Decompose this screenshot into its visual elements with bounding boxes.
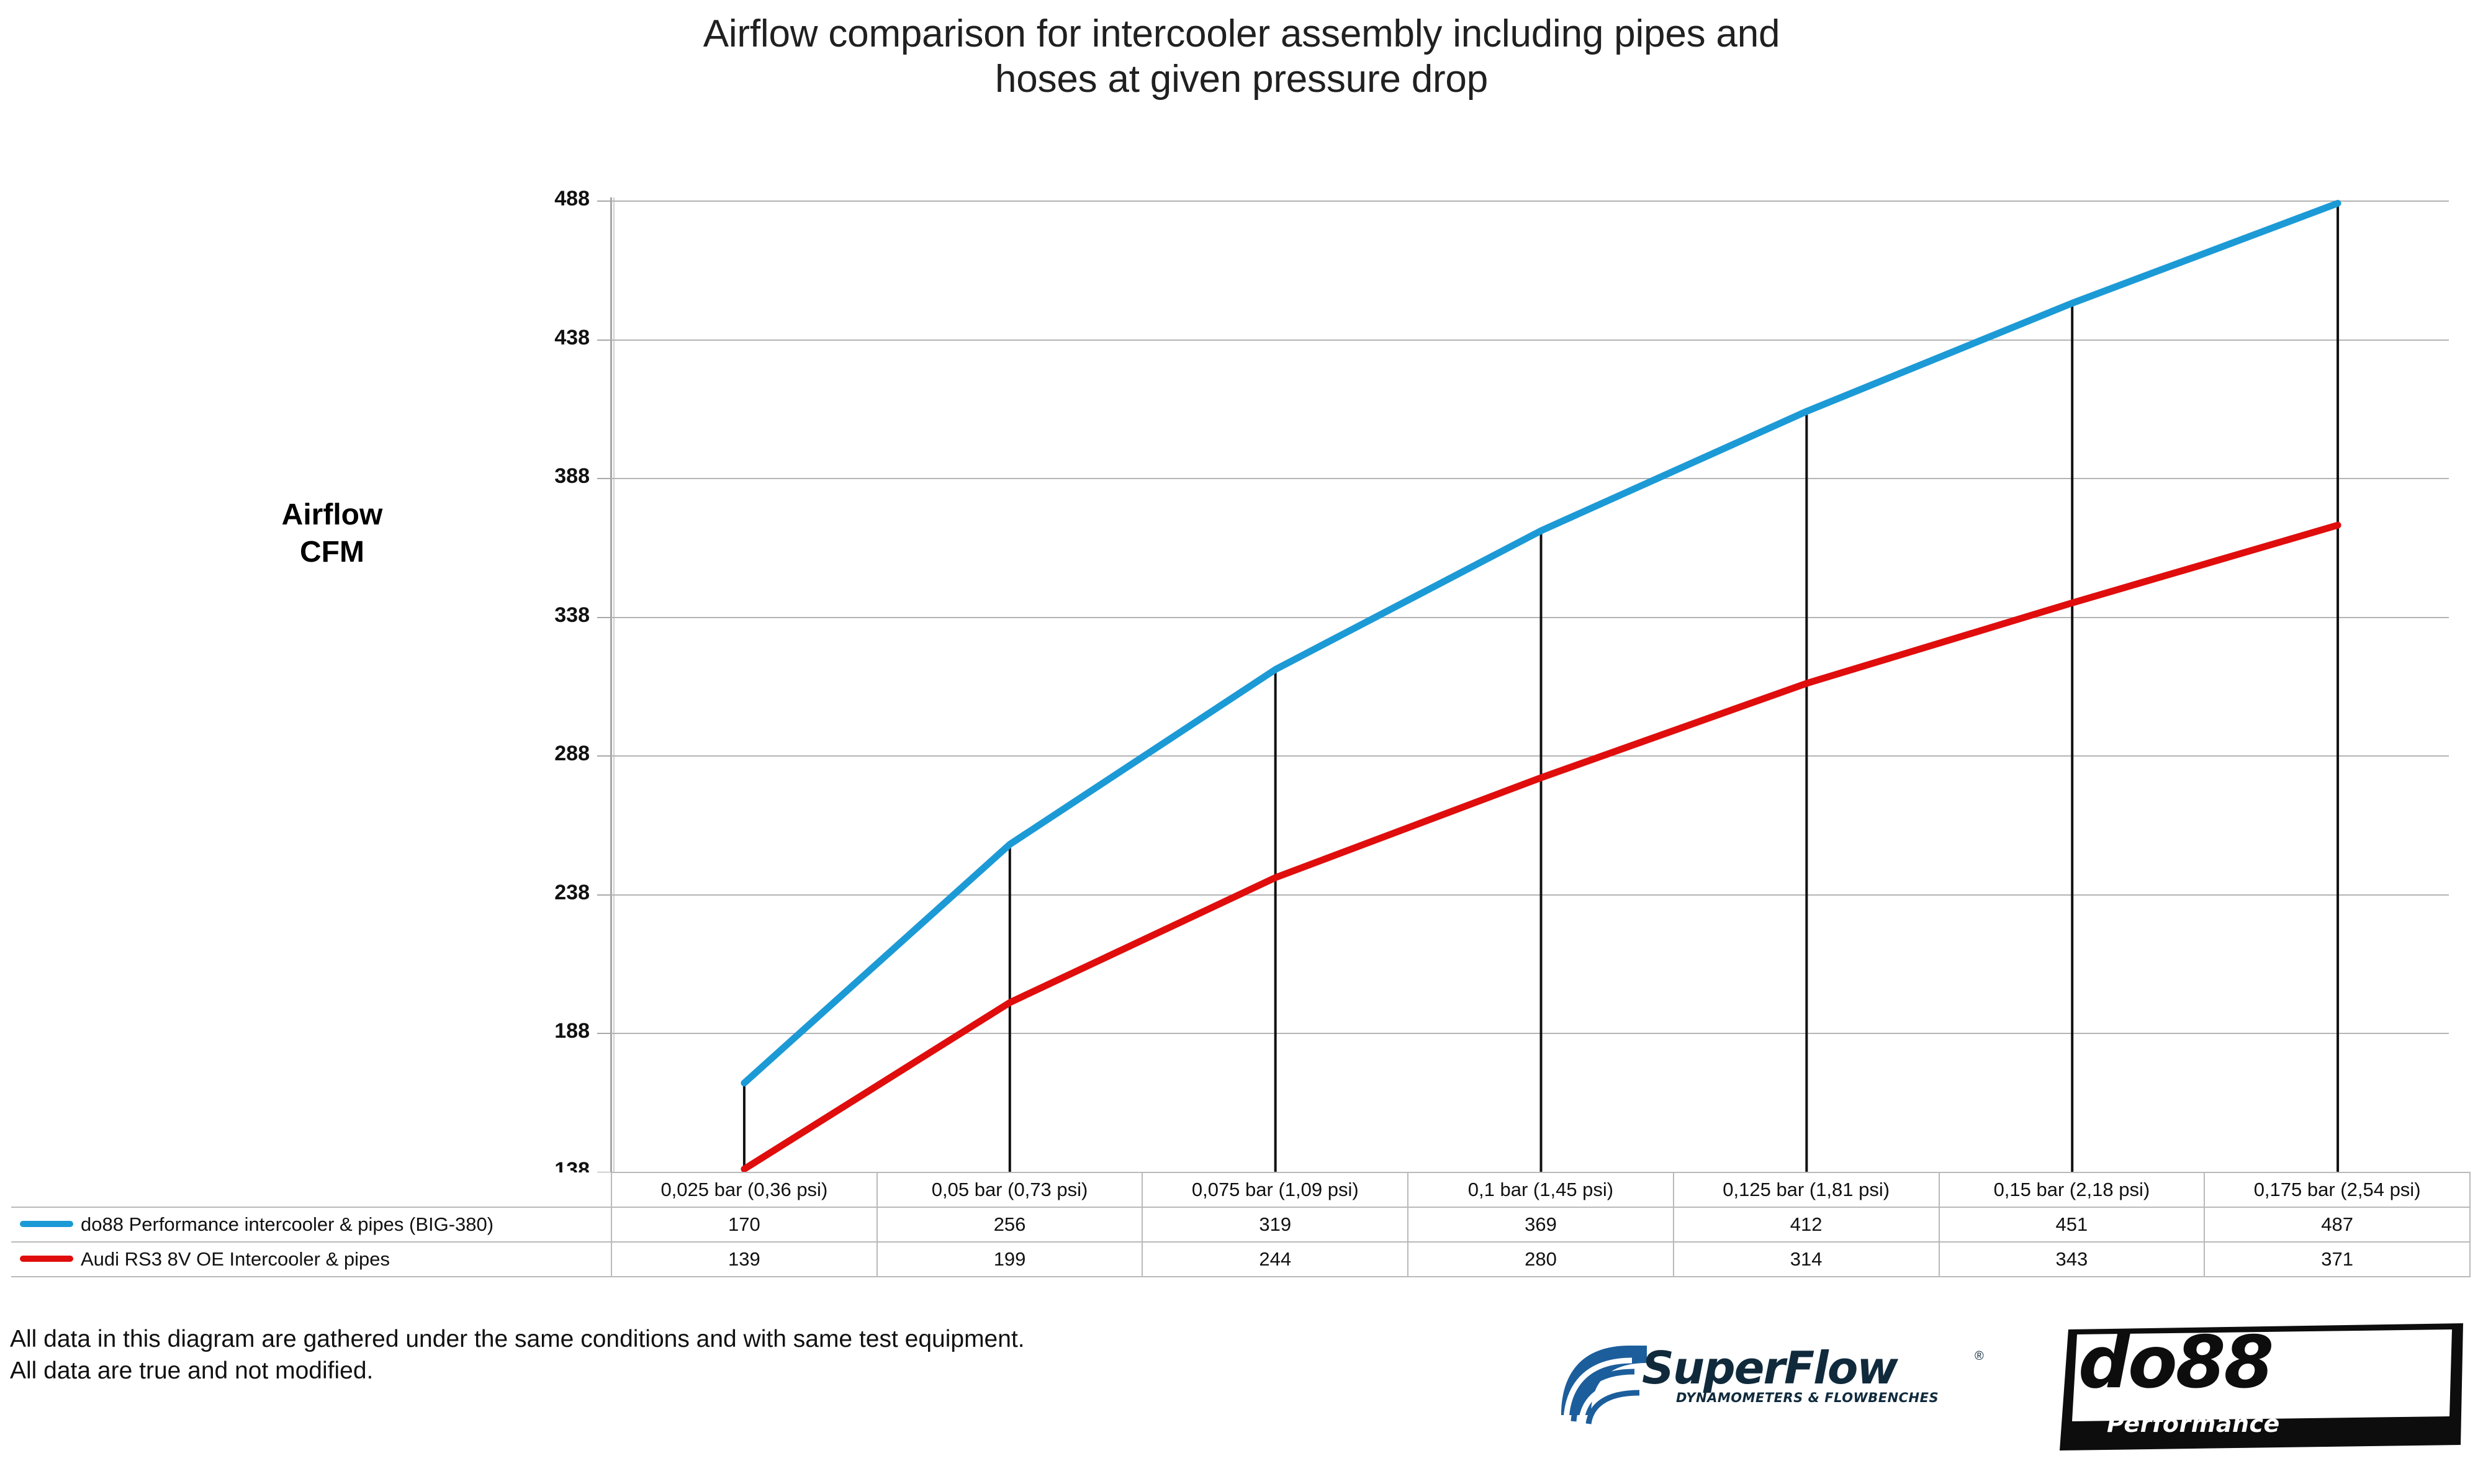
y-tick-mark-288 [597, 755, 611, 757]
y-tick-label-338: 338 [497, 603, 590, 627]
column-header-2: 0,075 bar (1,09 psi) [1142, 1172, 1408, 1207]
table-row: Audi RS3 8V OE Intercooler & pipes139199… [11, 1242, 2470, 1277]
gridline-488 [611, 200, 2449, 202]
table-row: do88 Performance intercooler & pipes (BI… [11, 1207, 2470, 1242]
y-tick-mark-238 [597, 894, 611, 896]
y-tick-mark-188 [597, 1033, 611, 1034]
legend-entry-2[interactable]: Audi RS3 8V OE Intercooler & pipes [11, 1242, 611, 1277]
y-tick-mark-388 [597, 478, 611, 479]
y-tick-mark-438 [597, 340, 611, 341]
gridline-388 [611, 478, 2449, 479]
y-tick-label-438: 438 [497, 326, 590, 350]
cell-s1-c2: 319 [1142, 1207, 1408, 1242]
cell-s1-c4: 412 [1674, 1207, 1939, 1242]
legend-label-1: do88 Performance intercooler & pipes (BI… [81, 1213, 493, 1235]
gridline-288 [611, 755, 2449, 757]
legend-swatch-1 [20, 1221, 73, 1227]
gridline-438 [611, 340, 2449, 341]
cell-s2-c4: 314 [1674, 1242, 1939, 1277]
cell-s1-c3: 369 [1408, 1207, 1674, 1242]
superflow-subtitle: DYNAMOMETERS & FLOWBENCHES [1676, 1390, 1939, 1405]
cell-s2-c5: 343 [1939, 1242, 2205, 1277]
column-header-0: 0,025 bar (0,36 psi) [611, 1172, 877, 1207]
chart-title: Airflow comparison for intercooler assem… [310, 11, 2173, 102]
legend-label-2: Audi RS3 8V OE Intercooler & pipes [81, 1248, 390, 1270]
y-axis-title-line-1: Airflow [230, 497, 435, 534]
table-header-row: 0,025 bar (0,36 psi)0,05 bar (0,73 psi)0… [11, 1172, 2470, 1207]
footnote-line-1: All data in this diagram are gathered un… [10, 1323, 1065, 1355]
cell-s1-c1: 256 [877, 1207, 1143, 1242]
y-tick-mark-488 [597, 200, 611, 202]
y-tick-label-188: 188 [497, 1019, 590, 1043]
superflow-swoosh-icon [1555, 1333, 1648, 1426]
legend-swatch-2 [20, 1256, 73, 1262]
superflow-wordmark: SuperFlow [1642, 1342, 1897, 1394]
do88-logo: do88 Performance [2060, 1323, 2469, 1450]
cell-s1-c6: 487 [2204, 1207, 2470, 1242]
plot-area [611, 200, 2449, 1172]
cell-s2-c2: 244 [1142, 1242, 1408, 1277]
data-table: 0,025 bar (0,36 psi)0,05 bar (0,73 psi)0… [11, 1172, 2471, 1277]
y-axis-title-line-2: CFM [230, 534, 435, 571]
do88-subtitle: Performance [2107, 1410, 2280, 1437]
y-axis-title: Airflow CFM [230, 497, 435, 570]
cell-s1-c0: 170 [611, 1207, 877, 1242]
y-tick-label-488: 488 [497, 187, 590, 211]
y-tick-mark-338 [597, 617, 611, 618]
column-header-6: 0,175 bar (2,54 psi) [2204, 1172, 2470, 1207]
footnote-line-2: All data are true and not modified. [10, 1355, 1065, 1387]
y-tick-label-238: 238 [497, 881, 590, 905]
chart-title-line-1: Airflow comparison for intercooler assem… [310, 11, 2173, 56]
superflow-trademark: ® [1975, 1349, 1984, 1364]
footnote: All data in this diagram are gathered un… [10, 1323, 1065, 1387]
gridline-238 [611, 894, 2449, 896]
cell-s2-c6: 371 [2204, 1242, 2470, 1277]
cell-s1-c5: 451 [1939, 1207, 2205, 1242]
cell-s2-c3: 280 [1408, 1242, 1674, 1277]
cell-s2-c0: 139 [611, 1242, 877, 1277]
cell-s2-c1: 199 [877, 1242, 1143, 1277]
column-header-5: 0,15 bar (2,18 psi) [1939, 1172, 2205, 1207]
y-tick-label-388: 388 [497, 464, 590, 488]
y-tick-label-288: 288 [497, 742, 590, 766]
gridline-188 [611, 1033, 2449, 1034]
column-header-3: 0,1 bar (1,45 psi) [1408, 1172, 1674, 1207]
superflow-logo: SuperFlow ® DYNAMOMETERS & FLOWBENCHES [1555, 1328, 1977, 1421]
column-header-4: 0,125 bar (1,81 psi) [1674, 1172, 1939, 1207]
column-header-1: 0,05 bar (0,73 psi) [877, 1172, 1143, 1207]
gridline-338 [611, 617, 2449, 618]
legend-entry-1[interactable]: do88 Performance intercooler & pipes (BI… [11, 1207, 611, 1242]
table-header-key-cell [11, 1172, 611, 1207]
do88-wordmark: do88 [2078, 1327, 2272, 1399]
chart-title-line-2: hoses at given pressure drop [310, 56, 2173, 102]
